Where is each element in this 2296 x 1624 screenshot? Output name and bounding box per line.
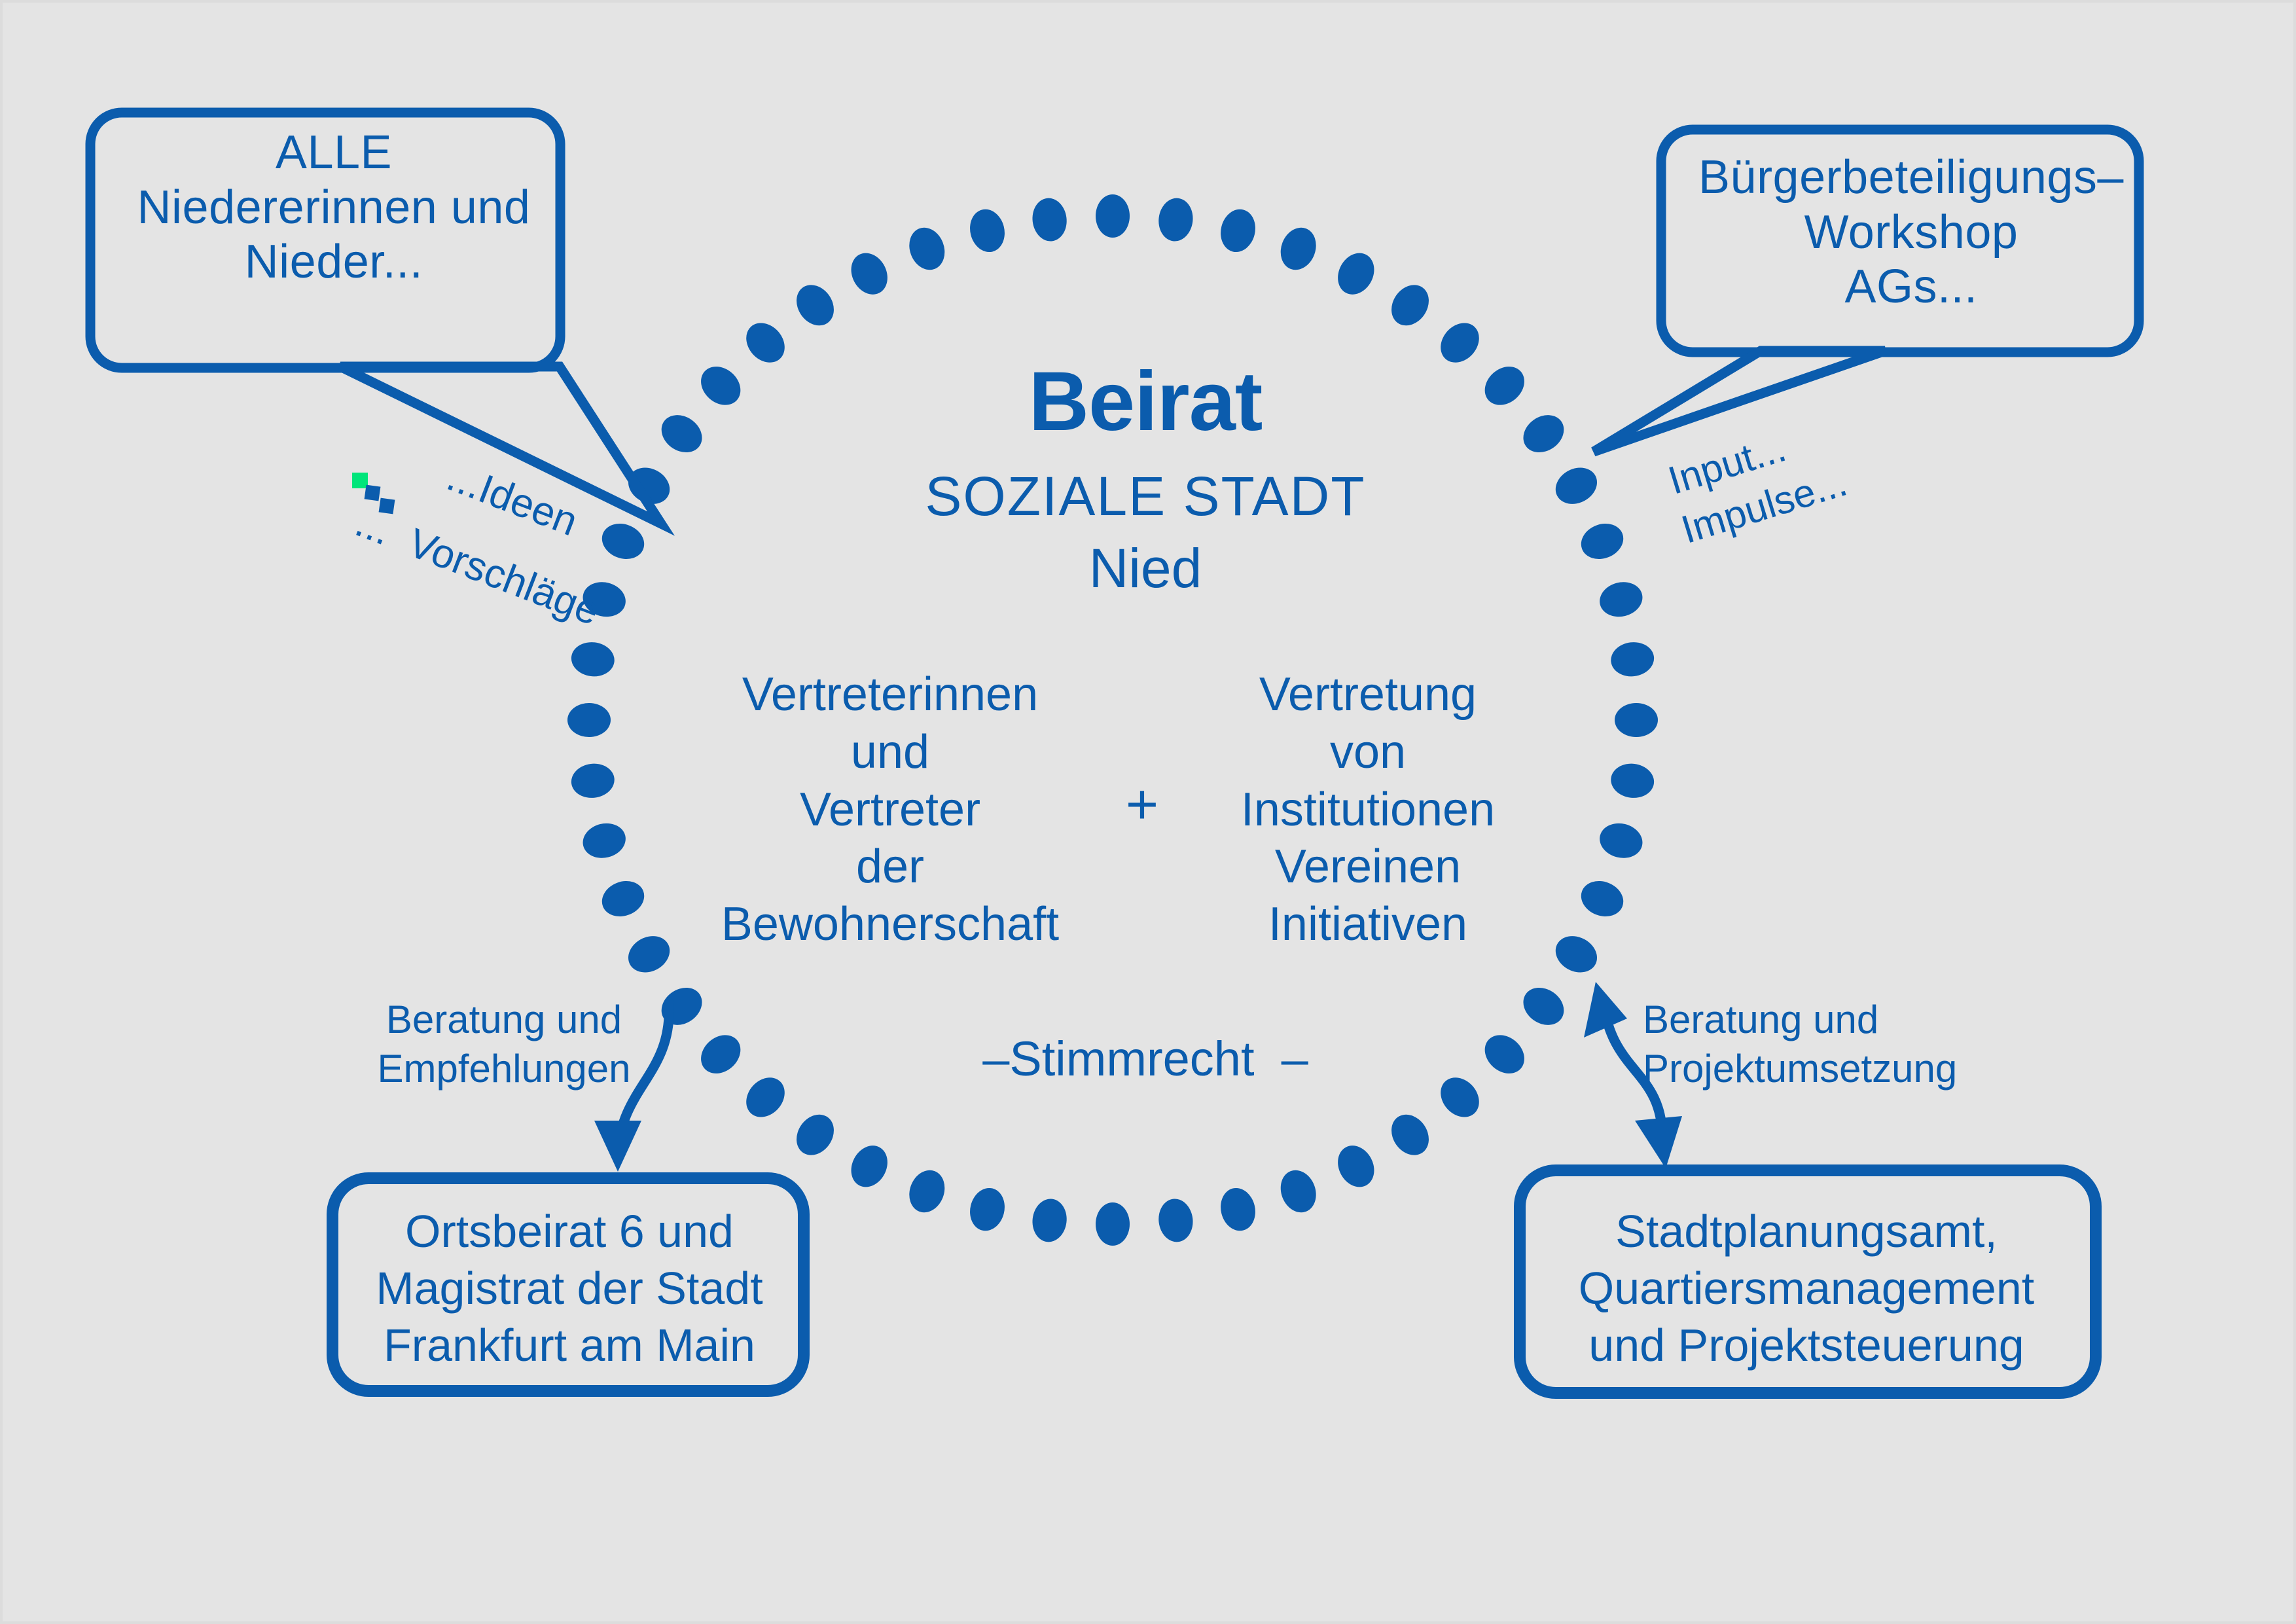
ring-dot <box>1216 1184 1259 1234</box>
ring-dot <box>1576 875 1628 922</box>
ring-dot <box>655 407 709 460</box>
ring-dot <box>622 929 676 979</box>
bubble-left-label: ALLE Niedererinnen und Nieder... <box>98 126 569 290</box>
ring-dot <box>1549 461 1604 511</box>
ring-dot <box>569 761 617 801</box>
plus-icon: + <box>1086 772 1198 838</box>
ring-dot <box>1549 929 1604 979</box>
diagram-canvas: ALLE Niedererinnen und Nieder... Bürgerb… <box>0 0 2296 1624</box>
ring-dot <box>903 1165 950 1218</box>
ring-dot <box>569 640 617 679</box>
green-accent-square <box>352 473 368 488</box>
box-ortsbeirat-label: Ortsbeirat 6 und Magistrat der Stadt Fra… <box>340 1203 798 1373</box>
ring-dot <box>1331 247 1381 301</box>
ring-dot <box>965 1184 1009 1234</box>
bubble-right-label: Bürgerbeteiligungs– Workshop AGs... <box>1669 151 2153 315</box>
ring-dot <box>1384 278 1436 333</box>
ring-dot <box>1331 1139 1381 1193</box>
ring-dot <box>1576 518 1628 565</box>
ring-dot <box>1615 703 1658 737</box>
ring-dot <box>1609 761 1656 801</box>
ring-dot <box>1433 1070 1487 1125</box>
ring-dot <box>1384 1108 1436 1163</box>
ring-dot <box>597 518 649 565</box>
core-column-right: Vertretung von Institutionen Vereinen In… <box>1198 666 1538 954</box>
stimmrecht-note: –Stimmrecht – <box>916 1031 1374 1087</box>
ring-dot <box>567 703 611 737</box>
box-stadtplanungsamt-label: Stadtplanungsamt, Quartiersmanagement un… <box>1525 1203 2088 1373</box>
core-subtitle-line1: SOZIALE STADT <box>779 465 1512 528</box>
ring-dot <box>655 980 709 1032</box>
ring-dot <box>965 206 1009 255</box>
ring-dot <box>1157 196 1196 244</box>
ring-dot <box>597 875 649 922</box>
ring-dot <box>1275 223 1322 275</box>
ring-dot <box>844 1139 895 1193</box>
ring-dot <box>1477 1027 1532 1081</box>
ring-dot <box>1596 578 1646 621</box>
arrow-label-right: Beratung und Projektumsetzung <box>1643 995 1950 1093</box>
ring-dot <box>693 1027 748 1081</box>
ring-dot <box>1516 407 1571 460</box>
ring-dot <box>1275 1165 1322 1218</box>
arrow-label-left: Beratung und Empfehlungen <box>373 995 635 1093</box>
ring-dot <box>1096 1202 1130 1246</box>
page-title: Beirat <box>779 353 1512 450</box>
ring-dot <box>1216 206 1259 255</box>
ring-dot <box>1609 640 1656 679</box>
ring-dot <box>1030 1197 1069 1244</box>
core-column-left: Vertreterinnen und Vertreter der Bewohne… <box>694 666 1086 954</box>
ring-dot <box>579 819 629 862</box>
ring-dot <box>738 1070 793 1125</box>
ring-dot <box>903 223 950 275</box>
ring-dot <box>1030 196 1069 244</box>
ring-dot <box>693 359 748 413</box>
ring-dot <box>1096 194 1130 238</box>
ring-dot <box>789 1108 841 1163</box>
core-subtitle-line2: Nied <box>779 537 1512 600</box>
ring-dot <box>844 247 895 301</box>
ring-dot <box>1596 819 1646 862</box>
ring-dot <box>1157 1197 1196 1244</box>
ring-dot <box>789 278 841 333</box>
ring-dot <box>1516 980 1571 1032</box>
